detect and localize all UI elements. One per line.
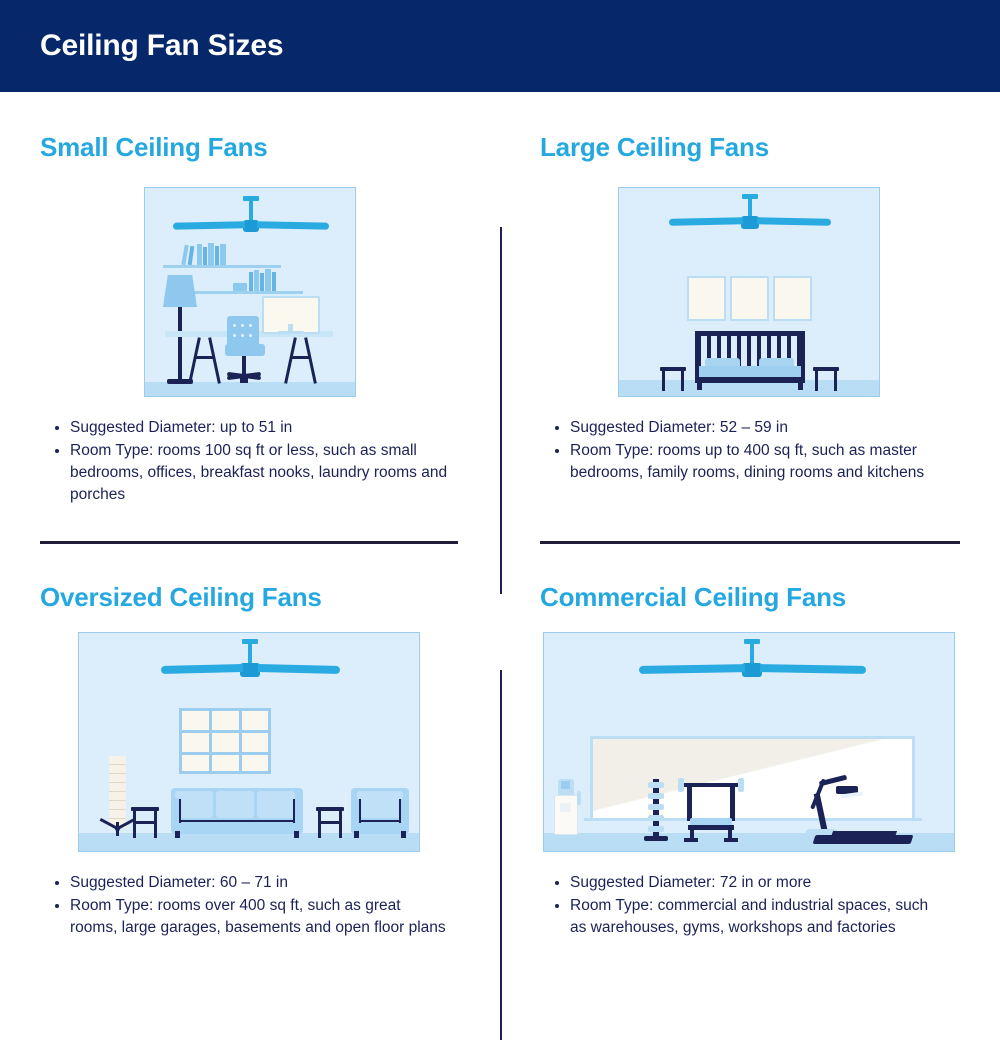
fan-blade-left: [639, 664, 745, 674]
section-title-commercial: Commercial Ceiling Fans: [540, 582, 846, 613]
chair-dot: [241, 324, 244, 327]
book: [188, 246, 195, 265]
lamp-ring: [109, 809, 126, 810]
armchair-cushion: [357, 791, 403, 818]
home-office-illustration: [144, 187, 356, 397]
gym-illustration: [543, 632, 955, 852]
infographic-page: Ceiling Fan Sizes Small Ceiling Fans: [0, 0, 1000, 1000]
bullet-item: Suggested Diameter: 52 – 59 in: [550, 417, 950, 439]
page-title: Ceiling Fan Sizes: [40, 29, 283, 63]
treadmill-belt: [831, 831, 897, 837]
wall-art-frame: [773, 276, 812, 321]
sofa-seam: [293, 799, 295, 823]
lamp-pole: [178, 307, 182, 384]
bullet-item: Suggested Diameter: 60 – 71 in: [50, 872, 450, 894]
dumbbell: [648, 793, 664, 799]
wall-art-frame: [687, 276, 726, 321]
section-small: Small Ceiling Fans: [0, 92, 500, 542]
window-pane: [212, 755, 239, 771]
lamp-ring: [109, 791, 126, 792]
book: [197, 244, 202, 265]
monitor-base: [278, 331, 304, 334]
section-oversized: Oversized Ceiling Fans: [0, 542, 500, 1000]
fan-hub: [240, 663, 260, 677]
book: [254, 270, 259, 291]
fan-blade-left: [669, 217, 743, 226]
sofa-cushion: [257, 791, 295, 818]
bullet-list-small: Suggested Diameter: up to 51 in Room Typ…: [50, 417, 470, 507]
nightstand-leg: [681, 371, 684, 391]
book: [272, 272, 276, 291]
armchair-leg: [354, 831, 359, 838]
bench-upright: [730, 787, 735, 821]
chair-caster-arm: [240, 374, 248, 383]
sofa-cushion: [216, 791, 254, 818]
bench-foot: [684, 838, 698, 842]
desk-leg: [304, 337, 317, 384]
bullet-item: Room Type: rooms over 400 sq ft, such as…: [50, 895, 450, 939]
armchair-seam: [399, 799, 401, 823]
window-pane: [182, 733, 209, 752]
section-commercial: Commercial Ceiling Fans: [500, 542, 1000, 1000]
window-pane: [182, 711, 209, 730]
water-cooler-water: [561, 781, 570, 789]
window-pane: [242, 755, 268, 771]
fan-blade-right: [257, 221, 329, 230]
water-cooler-body: [554, 795, 578, 835]
desk-leg: [208, 337, 221, 384]
barbell-plate: [678, 778, 684, 792]
dumbbell: [648, 782, 664, 788]
shelf-upper: [163, 265, 281, 268]
book: [265, 269, 271, 291]
lamp-ring: [109, 773, 126, 774]
lamp-ring: [109, 800, 126, 801]
water-cooler-cups: [577, 791, 581, 805]
bullet-item: Suggested Diameter: up to 51 in: [50, 417, 470, 439]
bullet-list-commercial: Suggested Diameter: 72 in or more Room T…: [550, 872, 940, 940]
sofa-seam: [179, 820, 295, 822]
fan-hub: [742, 663, 762, 677]
section-title-large: Large Ceiling Fans: [540, 132, 769, 163]
wall-art-frame: [730, 276, 769, 321]
fan-blade-right: [760, 664, 866, 674]
dumbbell-rack-base: [644, 836, 668, 841]
armchair-leg: [401, 831, 406, 838]
section-title-small: Small Ceiling Fans: [40, 132, 268, 163]
side-table-leg: [133, 811, 136, 838]
nightstand-leg: [815, 371, 818, 391]
dumbbell: [648, 804, 664, 810]
book: [249, 272, 253, 291]
sections-grid: Small Ceiling Fans: [0, 92, 1000, 1000]
chair-seat: [225, 344, 265, 356]
chair-dot: [249, 334, 252, 337]
section-large: Large Ceiling Fans: [500, 92, 1000, 542]
lamp-ring: [109, 782, 126, 783]
fan-blade-right: [757, 217, 831, 226]
mirror-reflection: [593, 739, 912, 818]
armchair-arm-right: [400, 798, 409, 834]
headboard-slat: [747, 335, 751, 369]
window-pane: [212, 733, 239, 752]
window-pane: [242, 733, 268, 752]
sofa-leg: [175, 831, 180, 838]
book: [220, 244, 226, 265]
fan-downrod: [748, 198, 752, 218]
floor: [145, 382, 355, 396]
floor: [79, 833, 419, 851]
bench-foot: [724, 838, 738, 842]
window-pane: [242, 711, 268, 730]
bullet-item: Room Type: rooms up to 400 sq ft, such a…: [550, 440, 950, 484]
desk-leg: [188, 337, 201, 384]
bullet-item: Room Type: rooms 100 sq ft or less, such…: [50, 440, 470, 506]
bullet-list-large: Suggested Diameter: 52 – 59 in Room Type…: [550, 417, 950, 485]
living-room-illustration: [78, 632, 420, 852]
chair-dot: [249, 324, 252, 327]
page-header: Ceiling Fan Sizes: [0, 0, 1000, 92]
lamp-shade: [163, 275, 197, 307]
book: [260, 273, 264, 291]
window-pane: [182, 755, 209, 771]
bullet-list-oversized: Suggested Diameter: 60 – 71 in Room Type…: [50, 872, 450, 940]
chair-dot: [241, 334, 244, 337]
fan-downrod: [249, 200, 253, 222]
dumbbell: [648, 815, 664, 821]
chair-dot: [233, 334, 236, 337]
fan-downrod: [750, 643, 754, 665]
lamp-ring: [109, 764, 126, 765]
water-cooler-tap: [560, 803, 571, 812]
desk-leg: [284, 337, 297, 384]
fan-downrod: [248, 643, 252, 665]
bed-frame-rail: [695, 377, 805, 383]
bullet-item: Room Type: commercial and industrial spa…: [550, 895, 940, 939]
chair-dot: [233, 324, 236, 327]
bed-leg: [798, 381, 803, 390]
book-stack: [233, 283, 247, 291]
lamp-ring: [109, 818, 126, 819]
book: [203, 247, 207, 265]
dumbbell: [648, 826, 664, 832]
sofa-leg: [294, 831, 299, 838]
nightstand-leg: [662, 371, 665, 391]
fan-blade-left: [173, 221, 245, 230]
side-table-leg: [339, 811, 342, 838]
desk-leg-brace: [195, 356, 215, 359]
wall-baseboard: [584, 818, 922, 821]
bed-leg: [697, 381, 702, 390]
barbell-plate: [738, 778, 744, 792]
side-table-brace: [133, 821, 157, 824]
nightstand-leg: [834, 371, 837, 391]
book: [208, 243, 214, 265]
side-table-leg: [318, 811, 321, 838]
window-pane: [212, 711, 239, 730]
fan-blade-right: [258, 664, 340, 674]
desk-leg-brace: [291, 356, 311, 359]
side-table-leg: [154, 811, 157, 838]
shelf-lower: [185, 291, 303, 294]
bedroom-illustration: [618, 187, 880, 397]
book: [215, 246, 219, 265]
bullet-item: Suggested Diameter: 72 in or more: [550, 872, 940, 894]
side-table-brace: [318, 821, 342, 824]
section-title-oversized: Oversized Ceiling Fans: [40, 582, 322, 613]
bench-upright: [687, 787, 692, 821]
armchair-seam: [359, 820, 401, 822]
fan-blade-left: [161, 664, 243, 674]
